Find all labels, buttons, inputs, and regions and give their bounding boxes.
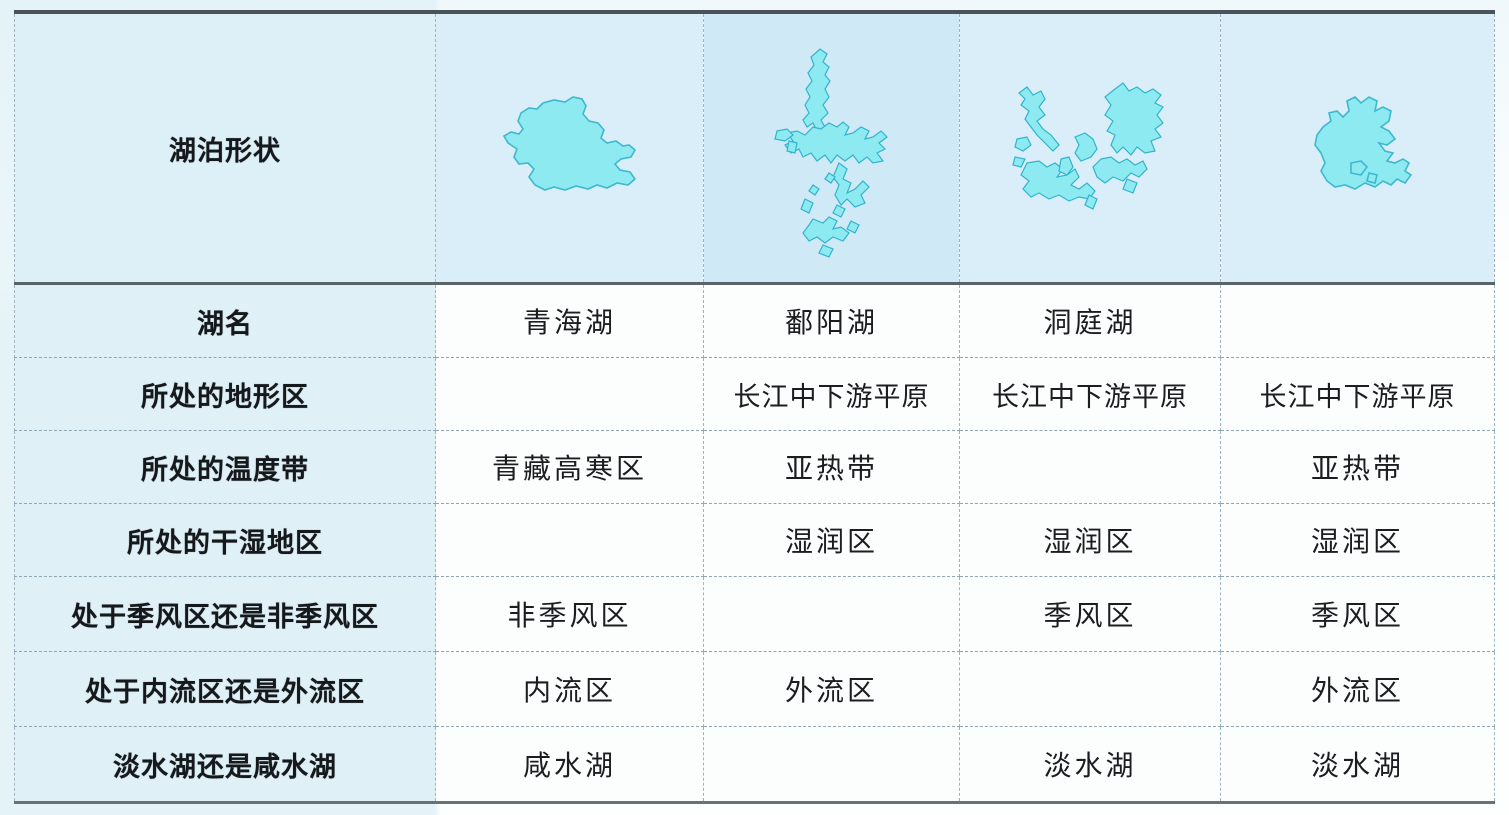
table-row-temperature-zone: 所处的温度带 青藏高寒区 亚热带 亚热带 — [15, 431, 1495, 504]
table-row-shapes: 湖泊形状 — [15, 12, 1495, 284]
cell-temperature-1: 青藏高寒区 — [436, 431, 704, 504]
table-row-humidity-zone: 所处的干湿地区 湿润区 湿润区 湿润区 — [15, 504, 1495, 577]
table-row-drainage: 处于内流区还是外流区 内流区 外流区 外流区 — [15, 652, 1495, 727]
dongting-lake-shape-icon — [960, 33, 1220, 263]
row-label-monsoon: 处于季风区还是非季风区 — [15, 577, 436, 652]
cell-temperature-2: 亚热带 — [704, 431, 960, 504]
row-label-water-type: 淡水湖还是咸水湖 — [15, 727, 436, 803]
row-label-temperature-zone: 所处的温度带 — [15, 431, 436, 504]
cell-lake-name-1: 青海湖 — [436, 284, 704, 358]
lake-comparison-table: 湖泊形状 — [14, 10, 1495, 804]
cell-drainage-4: 外流区 — [1221, 652, 1495, 727]
cell-lake-name-2: 鄱阳湖 — [704, 284, 960, 358]
cell-landform-1 — [436, 358, 704, 431]
cell-humidity-4: 湿润区 — [1221, 504, 1495, 577]
cell-drainage-2: 外流区 — [704, 652, 960, 727]
cell-drainage-3 — [960, 652, 1221, 727]
table-row-landform: 所处的地形区 长江中下游平原 长江中下游平原 长江中下游平原 — [15, 358, 1495, 431]
cell-drainage-1: 内流区 — [436, 652, 704, 727]
cell-humidity-1 — [436, 504, 704, 577]
cell-shape-dongting — [960, 12, 1221, 284]
table-row-monsoon: 处于季风区还是非季风区 非季风区 季风区 季风区 — [15, 577, 1495, 652]
qinghai-lake-shape-icon — [436, 33, 703, 263]
row-label-drainage: 处于内流区还是外流区 — [15, 652, 436, 727]
cell-water-type-3: 淡水湖 — [960, 727, 1221, 803]
cell-shape-qinghai — [436, 12, 704, 284]
cell-shape-poyang — [704, 12, 960, 284]
scanned-table-page: 湖泊形状 — [0, 0, 1509, 815]
table-row-lake-name: 湖名 青海湖 鄱阳湖 洞庭湖 — [15, 284, 1495, 358]
cell-temperature-4: 亚热带 — [1221, 431, 1495, 504]
cell-landform-2: 长江中下游平原 — [704, 358, 960, 431]
cell-water-type-2 — [704, 727, 960, 803]
cell-monsoon-3: 季风区 — [960, 577, 1221, 652]
cell-lake-name-4 — [1221, 284, 1495, 358]
cell-landform-3: 长江中下游平原 — [960, 358, 1221, 431]
cell-monsoon-1: 非季风区 — [436, 577, 704, 652]
row-label-lake-name: 湖名 — [15, 284, 436, 358]
cell-landform-4: 长江中下游平原 — [1221, 358, 1495, 431]
poyang-lake-shape-icon — [704, 23, 959, 273]
row-label-landform: 所处的地形区 — [15, 358, 436, 431]
cell-humidity-2: 湿润区 — [704, 504, 960, 577]
cell-humidity-3: 湿润区 — [960, 504, 1221, 577]
cell-monsoon-4: 季风区 — [1221, 577, 1495, 652]
cell-monsoon-2 — [704, 577, 960, 652]
row-label-humidity-zone: 所处的干湿地区 — [15, 504, 436, 577]
cell-water-type-4: 淡水湖 — [1221, 727, 1495, 803]
row-label-lake-shape: 湖泊形状 — [15, 12, 436, 284]
cell-lake-name-3: 洞庭湖 — [960, 284, 1221, 358]
cell-shape-taihu — [1221, 12, 1495, 284]
cell-water-type-1: 咸水湖 — [436, 727, 704, 803]
cell-temperature-3 — [960, 431, 1221, 504]
table-row-water-type: 淡水湖还是咸水湖 咸水湖 淡水湖 淡水湖 — [15, 727, 1495, 803]
taihu-lake-shape-icon — [1221, 33, 1494, 263]
